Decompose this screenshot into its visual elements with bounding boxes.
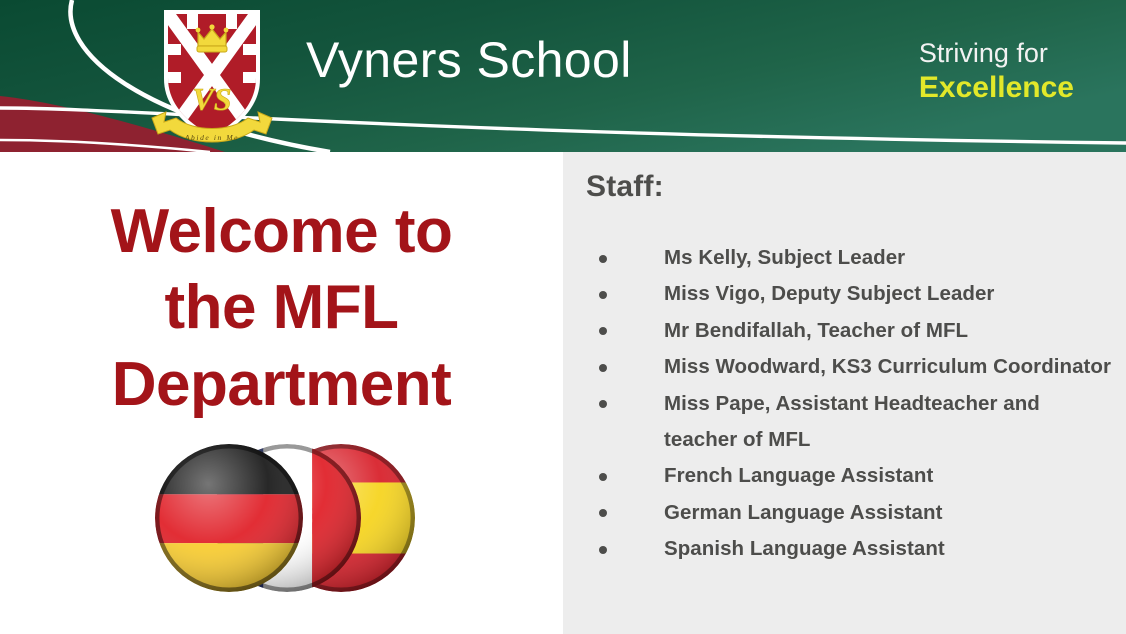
school-name: Vyners School <box>306 35 632 85</box>
school-motto: Striving for Excellence <box>919 38 1074 105</box>
header-banner: VS Abide in Me Vyners School Striving fo… <box>0 0 1126 152</box>
list-item: Miss Vigo, Deputy Subject Leader <box>587 276 1111 312</box>
staff-heading: Staff: <box>586 170 664 204</box>
list-item: Miss Pape, Assistant Headteacher and tea… <box>587 386 1111 459</box>
list-item-label: Spanish Language Assistant <box>664 537 945 560</box>
crest-notch <box>187 14 198 29</box>
list-item-label: French Language Assistant <box>664 464 933 487</box>
bullet-icon <box>599 509 607 517</box>
staff-list: Ms Kelly, Subject Leader Miss Vigo, Depu… <box>587 240 1111 568</box>
page-title-line-3: Department <box>20 347 543 423</box>
crest-notch <box>243 72 256 83</box>
left-pane: Welcome to the MFL Department <box>0 152 563 634</box>
bullet-icon <box>599 546 607 554</box>
bullet-icon <box>599 255 607 263</box>
motto-line-1: Striving for <box>919 38 1074 70</box>
bullet-icon <box>599 327 607 335</box>
list-item-label: Miss Vigo, Deputy Subject Leader <box>664 282 994 305</box>
bullet-icon <box>599 291 607 299</box>
list-item-label: Miss Pape, Assistant Headteacher and tea… <box>664 392 1040 451</box>
list-item: Ms Kelly, Subject Leader <box>587 240 1111 276</box>
list-item: French Language Assistant <box>587 458 1111 494</box>
list-item-label: Mr Bendifallah, Teacher of MFL <box>664 319 968 342</box>
right-pane: Staff: Ms Kelly, Subject Leader Miss Vig… <box>563 152 1126 634</box>
crest-notch <box>168 72 181 83</box>
bullet-icon <box>599 364 607 372</box>
school-crest-icon: VS Abide in Me <box>146 6 278 148</box>
list-item: Miss Woodward, KS3 Curriculum Coordinato… <box>587 349 1111 385</box>
list-item: German Language Assistant <box>587 495 1111 531</box>
list-item: Mr Bendifallah, Teacher of MFL <box>587 313 1111 349</box>
language-flags-group <box>155 444 423 596</box>
crest-notch <box>243 44 256 55</box>
motto-line-2: Excellence <box>919 70 1074 105</box>
crest-notch <box>168 44 181 55</box>
list-item-label: German Language Assistant <box>664 501 942 524</box>
list-item: Spanish Language Assistant <box>587 531 1111 567</box>
german-flag-icon <box>155 444 303 592</box>
crest-ribbon-text: Abide in Me <box>184 133 239 142</box>
list-item-label: Miss Woodward, KS3 Curriculum Coordinato… <box>664 355 1111 378</box>
list-item-label: Ms Kelly, Subject Leader <box>664 246 905 269</box>
page-title-line-1: Welcome to <box>20 194 543 270</box>
slide-root: VS Abide in Me Vyners School Striving fo… <box>0 0 1126 634</box>
crest-notch <box>226 14 237 29</box>
page-title: Welcome to the MFL Department <box>20 194 543 423</box>
crest-monogram: VS <box>192 81 231 117</box>
bullet-icon <box>599 473 607 481</box>
page-title-line-2: the MFL <box>20 270 543 346</box>
bullet-icon <box>599 400 607 408</box>
